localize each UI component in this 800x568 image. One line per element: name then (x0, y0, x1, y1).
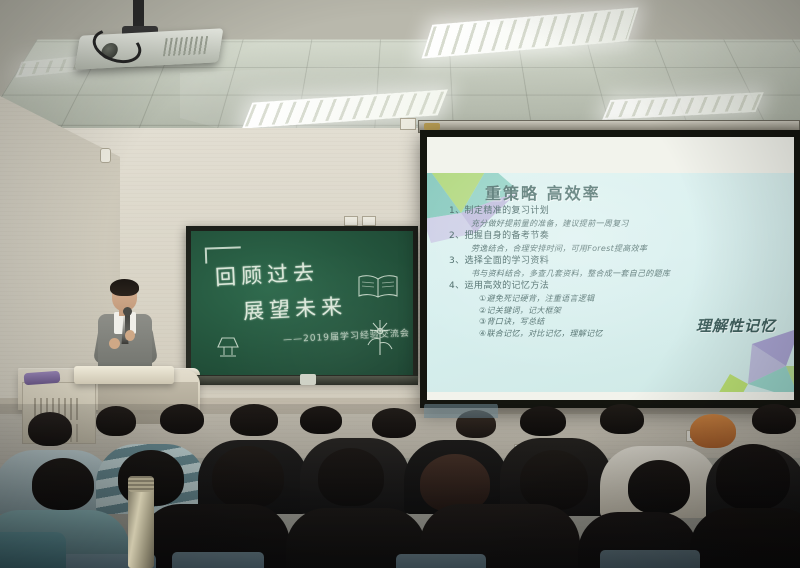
bullet-number: 3、 (449, 256, 465, 266)
seat-back (424, 404, 498, 418)
audience-head-front (318, 448, 384, 506)
blackboard-line-1: 回顾过去 (214, 256, 319, 291)
audience-head (160, 404, 204, 434)
audience-area (0, 404, 800, 568)
bullet-text: 把握自身的备考节奏 (465, 231, 550, 241)
audience-head-front (212, 446, 284, 508)
slide-bullet-sub: 充分做好提前量的准备，建议提前一周复习 (471, 218, 786, 230)
purple-object-on-counter (24, 371, 61, 385)
slide-title: 重策略 高效率 (485, 180, 601, 204)
audience-head-front (520, 450, 588, 510)
bullet-number: 1、 (449, 206, 465, 216)
blackboard-line-3: ——2019届学习经验交流会 (283, 326, 410, 346)
slide-sub-item: ①避免死记硬背，注重语言逻辑 (479, 293, 786, 305)
audience-head-red-hair (690, 414, 736, 448)
backpack (0, 532, 66, 568)
chalk-flower-icon (363, 317, 397, 357)
presenter-hair (110, 279, 139, 296)
blackboard-line-2: 展望未来 (242, 290, 347, 325)
blackboard: 回顾过去 展望未来 ——2019届学习经验交流会 (186, 226, 418, 380)
bullet-text: 运用高效的记忆方法 (465, 281, 550, 291)
audience-head-front (32, 458, 94, 510)
slide-emphasis-text: 理解性记忆 (696, 315, 776, 336)
audience-back (690, 508, 800, 568)
chalk-corner-bracket-icon (205, 246, 242, 263)
wall-switch[interactable] (344, 216, 358, 226)
audience-head (300, 406, 342, 434)
screen-surface: 重策略 高效率 1、制定精准的复习计划 充分做好提前量的准备，建议提前一周复习 … (427, 137, 794, 400)
classroom-photo: 回顾过去 展望未来 ——2019届学习经验交流会 (0, 0, 800, 568)
chalk-open-book-icon (357, 273, 399, 299)
podium (74, 366, 174, 384)
slide-bullet-main: 4、运用高效的记忆方法 (449, 280, 786, 293)
audience-head (520, 406, 566, 436)
presenter-left-hand (109, 338, 120, 349)
wall-bracket (400, 118, 416, 130)
presentation-slide: 重策略 高效率 1、制定精准的复习计划 充分做好提前量的准备，建议提前一周复习 … (427, 173, 794, 392)
audience-head (230, 404, 278, 436)
audience-head (372, 408, 416, 438)
seat-back (172, 552, 264, 568)
presenter-right-hand (125, 330, 135, 341)
bullet-text: 制定精准的复习计划 (465, 206, 550, 216)
slide-bullet-sub: 书与资料结合，多查几套资料，整合成一套自己的题库 (471, 268, 786, 280)
seat-back (396, 554, 486, 568)
audience-head (600, 404, 644, 434)
wall-switch[interactable] (362, 216, 376, 226)
bullet-text: 选择全面的学习资料 (465, 256, 550, 266)
seat-back (600, 550, 700, 568)
slide-bullet-main: 2、把握自身的备考节奏 (449, 230, 786, 243)
chalk-tray-clip (300, 374, 316, 385)
slide-bullet-sub: 劳逸结合，合理安排时间，可用Forest提高效率 (471, 243, 786, 255)
slide-bullet-main: 1、制定精准的复习计划 (449, 205, 786, 218)
bullet-number: 4、 (449, 281, 465, 291)
presenter (92, 282, 158, 374)
bullet-number: 2、 (449, 231, 465, 241)
blackboard-surface: 回顾过去 展望未来 ——2019届学习经验交流会 (191, 231, 413, 375)
projection-screen: 重策略 高效率 1、制定精准的复习计划 充分做好提前量的准备，建议提前一周复习 … (420, 130, 800, 408)
wall-sensor (100, 148, 111, 163)
audience-head-front (628, 460, 690, 514)
audience-head-front (716, 444, 790, 510)
microphone-capsule-icon (123, 307, 132, 316)
audience-head (96, 406, 136, 436)
thermos-cap (128, 476, 154, 492)
audience-head (752, 404, 796, 434)
projector-vent (163, 36, 208, 56)
roller-end-cap (424, 123, 440, 130)
audience-head (28, 412, 72, 446)
slide-bullet-main: 3、选择全面的学习资料 (449, 255, 786, 268)
chalk-lamp-icon (213, 329, 243, 359)
